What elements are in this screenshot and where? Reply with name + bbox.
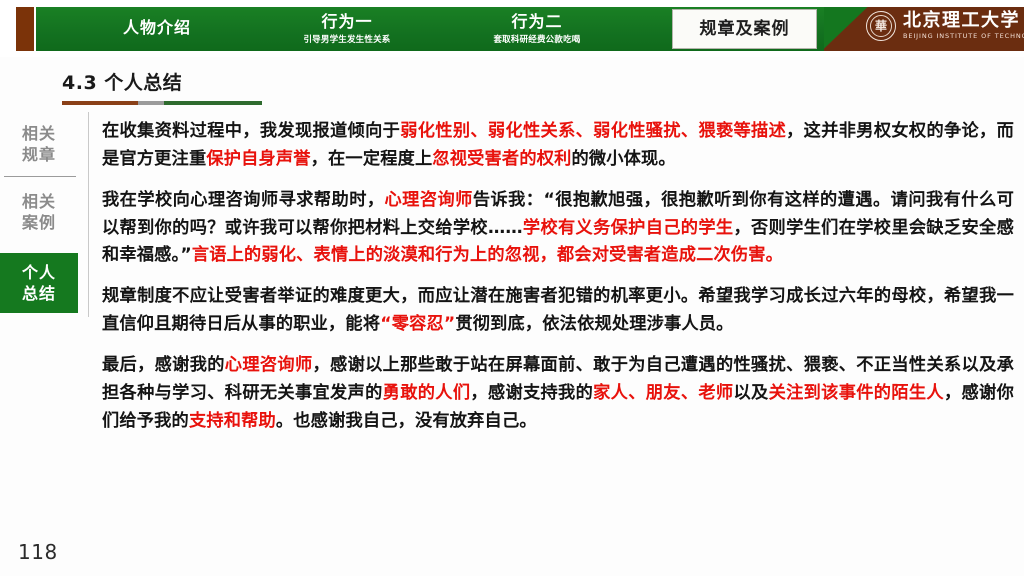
text-run: 的微小体现。 [571,149,675,169]
highlighted-text-run: 支持和帮助 [189,411,276,431]
content-body: 在收集资料过程中，我发现报道倾向于弱化性别、弱化性关系、弱化性骚扰、猥亵等描述，… [102,118,1014,436]
sidebar-divider [4,176,76,177]
highlighted-text-run: 学校有义务保护自己的学生 [523,218,734,238]
page-title-block: 4.3 个人总结 [62,68,262,105]
nav-tab-title: 人物介绍 [123,19,191,37]
slide-header: 人物介绍 行为一 引导男学生发生性关系 行为二 套取科研经费公款吃喝 规章及案例… [0,0,1024,57]
text-run: 最后，感谢我的 [102,355,225,375]
university-seal-icon: 華 [866,11,896,41]
text-run: 贯彻到底，依法依规处理涉事人员。 [455,314,733,334]
highlighted-text-run: 勇敢的人们 [383,383,471,403]
university-logo-zone: 華 北京理工大学 BEIJING INSTITUTE OF TECHNOLOGY [824,7,1024,51]
highlighted-text-run: 弱化性别、弱化性关系、弱化性骚扰、猥亵等描述 [400,121,786,141]
sidebar-item-label-line1: 个人 [22,262,56,283]
paragraph: 我在学校向心理咨询师寻求帮助时，心理咨询师告诉我：“很抱歉旭强，很抱歉听到你有这… [102,187,1014,271]
title-underline-segment-green [164,101,262,105]
slide-root: 人物介绍 行为一 引导男学生发生性关系 行为二 套取科研经费公款吃喝 规章及案例… [0,0,1024,576]
nav-tab-title: 行为二 [511,13,562,31]
university-logo-text: 北京理工大学 BEIJING INSTITUTE OF TECHNOLOGY [903,12,1024,40]
nav-tab-title: 规章及案例 [700,20,790,39]
nav-tab-behavior-one[interactable]: 行为一 引导男学生发生性关系 [252,7,442,51]
text-run: ，在一定程度上 [311,149,433,169]
highlighted-text-run: 关注到该事件的陌生人 [769,383,944,403]
highlighted-text-run: 心理咨询师 [225,355,313,375]
header-accent-block [16,7,34,51]
text-run: 我在学校向心理咨询师寻求帮助时， [102,190,385,210]
sidebar-item-personal-summary-active[interactable]: 个人 总结 [0,253,78,313]
highlighted-text-run: 保护自身声誉 [206,149,310,169]
title-underline-segment-brown [62,101,138,105]
nav-tab-behavior-two[interactable]: 行为二 套取科研经费公款吃喝 [442,7,632,51]
highlighted-text-run: 忽视受害者的权利 [432,149,571,169]
page-title: 4.3 个人总结 [62,68,262,95]
title-underline [62,101,262,105]
nav-tab-subtitle: 套取科研经费公款吃喝 [493,33,580,45]
university-name-en: BEIJING INSTITUTE OF TECHNOLOGY [903,33,1024,40]
text-run: 。也感谢我自己，没有放弃自己。 [276,411,537,431]
sidebar-item-label-line2: 规章 [22,144,56,165]
seal-glyph: 華 [875,20,887,32]
sidebar-item-related-cases[interactable]: 相关 案例 [0,188,78,236]
highlighted-text-run: “零容忍” [380,314,455,334]
university-logo: 華 北京理工大学 BEIJING INSTITUTE OF TECHNOLOGY [866,11,1024,41]
header-nav-items: 人物介绍 行为一 引导男学生发生性关系 行为二 套取科研经费公款吃喝 规章及案例 [36,7,855,51]
nav-tab-people-intro[interactable]: 人物介绍 [62,7,252,51]
sidebar-item-label-line2: 案例 [22,212,56,233]
sidebar-item-label-line1: 相关 [22,123,56,144]
text-run: ，感谢支持我的 [470,383,593,403]
paragraph: 在收集资料过程中，我发现报道倾向于弱化性别、弱化性关系、弱化性骚扰、猥亵等描述，… [102,118,1014,174]
sidebar-item-label-line1: 相关 [22,191,56,212]
university-name-cn: 北京理工大学 [903,12,1024,30]
nav-tab-title: 行为一 [321,13,372,31]
sidebar-item-related-rules[interactable]: 相关 规章 [0,120,78,168]
section-sidebar: 相关 规章 相关 案例 个人 总结 [0,112,88,317]
title-underline-segment-gray [138,101,164,105]
highlighted-text-run: 家人、朋友、老师 [593,383,733,403]
text-run: 在收集资料过程中，我发现报道倾向于 [102,121,400,141]
page-number: 118 [18,540,58,564]
paragraph: 规章制度不应让受害者举证的难度更大，而应让潜在施害者犯错的机率更小。希望我学习成… [102,283,1014,339]
sidebar-item-label-line2: 总结 [22,283,56,304]
paragraph: 最后，感谢我的心理咨询师，感谢以上那些敢于站在屏幕面前、敢于为自己遭遇的性骚扰、… [102,352,1014,436]
highlighted-text-run: 心理咨询师 [385,190,473,210]
nav-tab-rules-and-cases-active[interactable]: 规章及案例 [672,9,817,49]
sidebar-vertical-rule [88,112,89,317]
text-run: 以及 [733,383,768,403]
nav-tab-subtitle: 引导男学生发生性关系 [303,33,390,45]
highlighted-text-run: 言语上的弱化、表情上的淡漠和行为上的忽视，都会对受害者造成二次伤害。 [192,245,783,265]
